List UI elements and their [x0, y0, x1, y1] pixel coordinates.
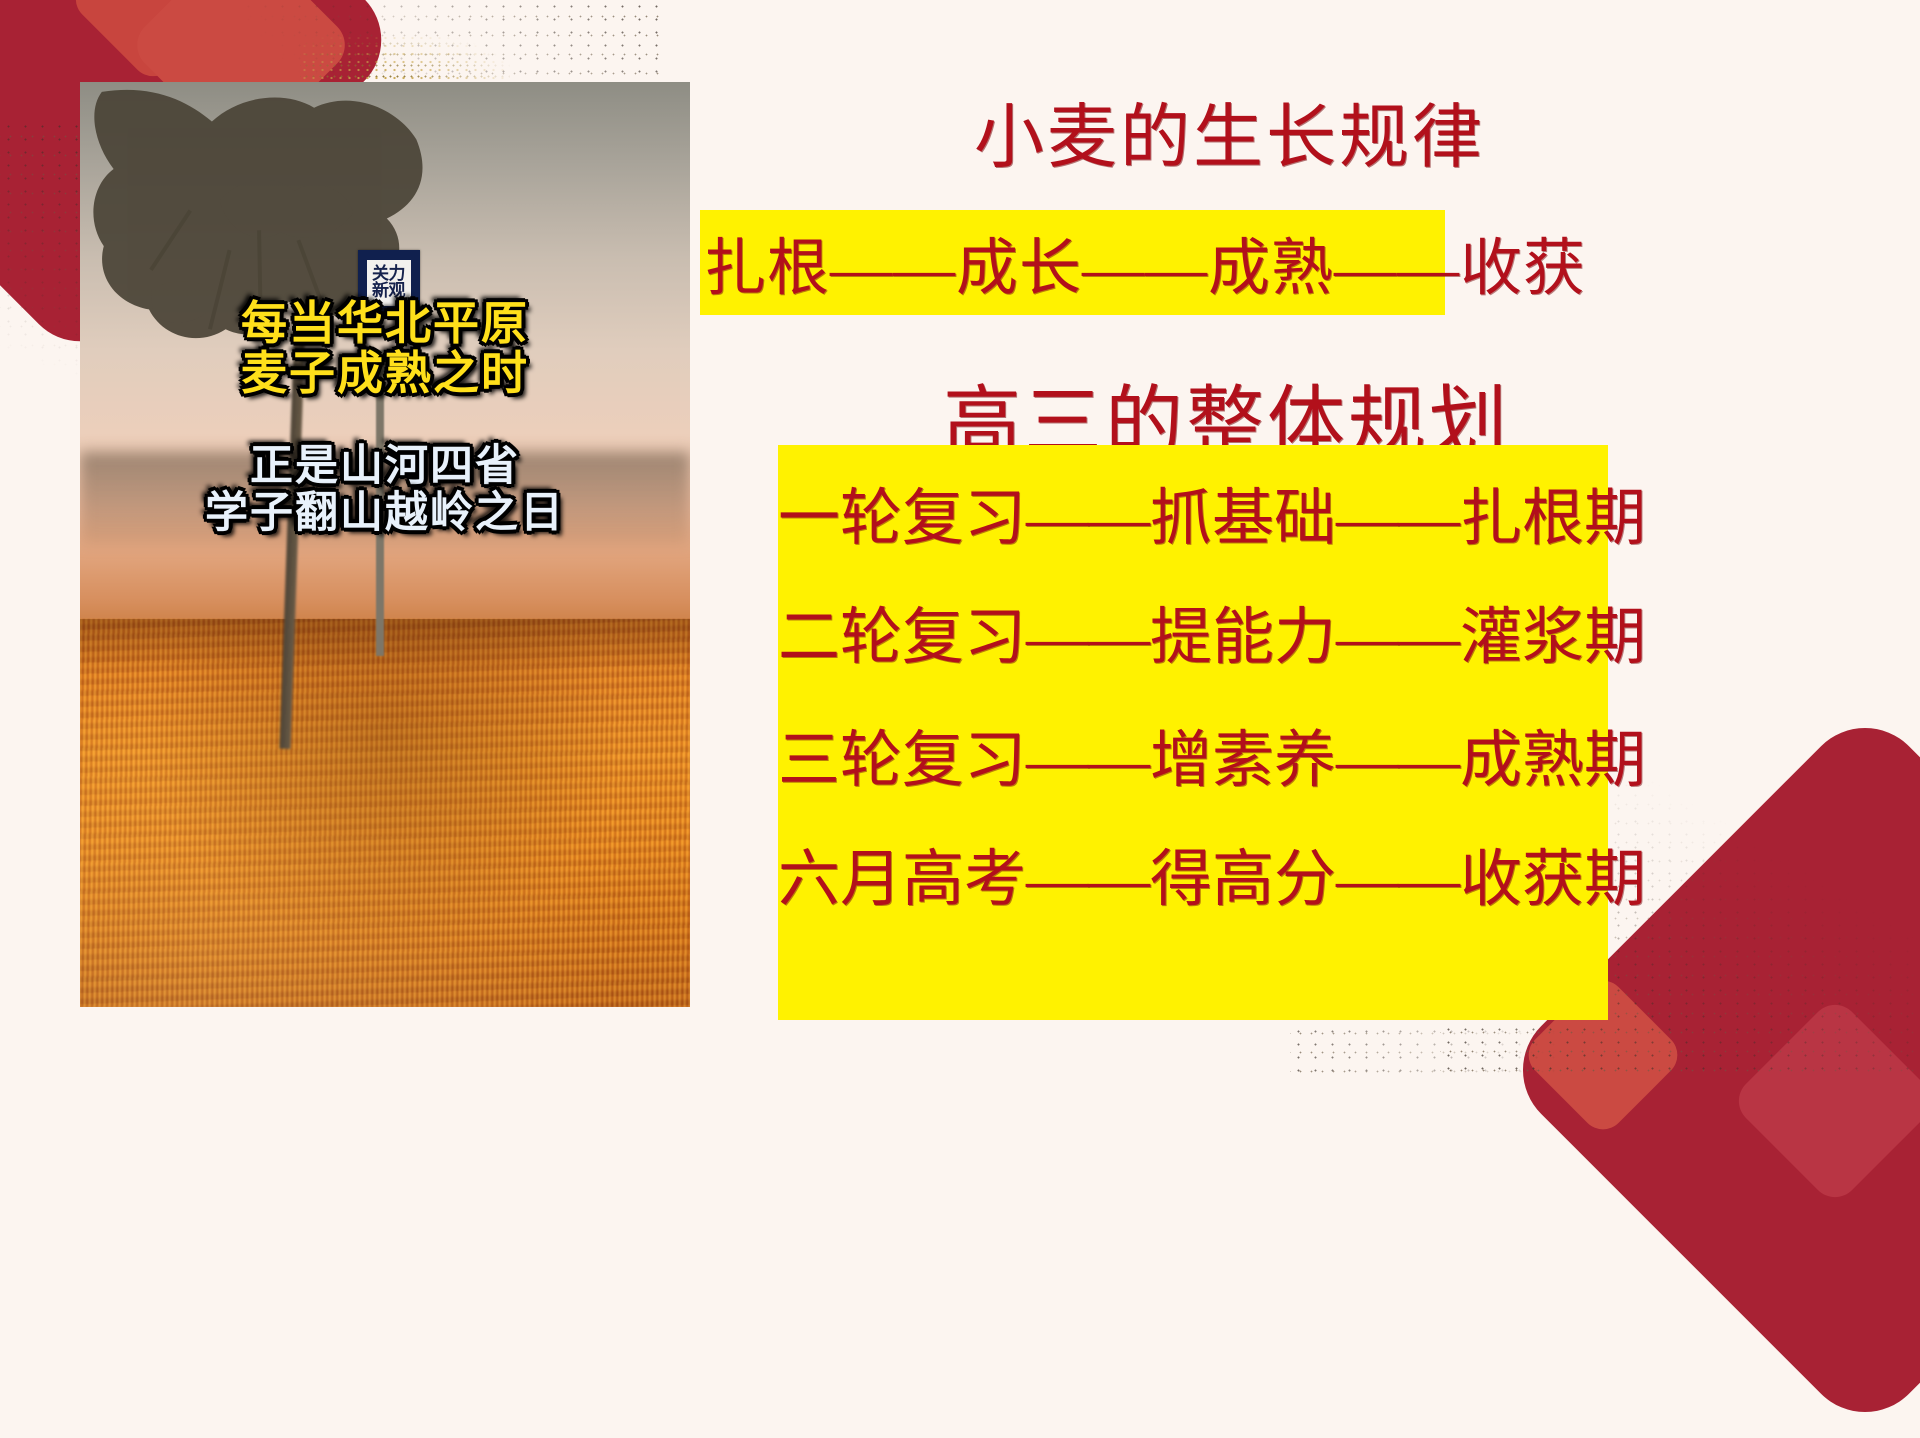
photo-field-shading — [80, 619, 690, 1008]
photo-caption-yellow-line-1: 每当华北平原 — [80, 299, 690, 349]
photo-caption-yellow: 每当华北平原 麦子成熟之时 — [80, 299, 690, 398]
photo-caption-yellow-line-2: 麦子成熟之时 — [80, 349, 690, 399]
wheat-field-photo: 关力 新观 每当华北平原 麦子成熟之时 正是山河四省 学子翻山越岭之日 — [80, 82, 690, 1007]
review-plan-line-4: 六月高考——得高分——收获期 — [778, 849, 1608, 911]
review-plan-line-1: 一轮复习——抓基础——扎根期 — [778, 488, 1608, 550]
growth-stages-text: 扎根——成长——成熟——收获 — [704, 238, 1586, 300]
heading-wheat-growth-law: 小麦的生长规律 — [974, 104, 1485, 174]
review-plan-line-3: 三轮复习——增素养——成熟期 — [778, 730, 1608, 792]
photo-caption-white: 正是山河四省 学子翻山越岭之日 — [80, 443, 690, 538]
top-left-diamond-small-shape — [67, 0, 240, 85]
review-plan-line-2: 二轮复习——提能力——灌浆期 — [778, 607, 1608, 669]
photo-caption-white-line-2: 学子翻山越岭之日 — [80, 490, 690, 537]
photo-caption-white-line-1: 正是山河四省 — [80, 443, 690, 490]
right-content-column: 小麦的生长规律 扎根——成长——成熟——收获 高三的整体规划 一轮复习——抓基础… — [700, 0, 1920, 1080]
highlight-band-review-plan: 一轮复习——抓基础——扎根期 二轮复习——提能力——灌浆期 三轮复习——增素养—… — [778, 445, 1608, 1020]
highlight-band-growth-stages: 扎根——成长——成熟——收获 — [700, 210, 1445, 315]
